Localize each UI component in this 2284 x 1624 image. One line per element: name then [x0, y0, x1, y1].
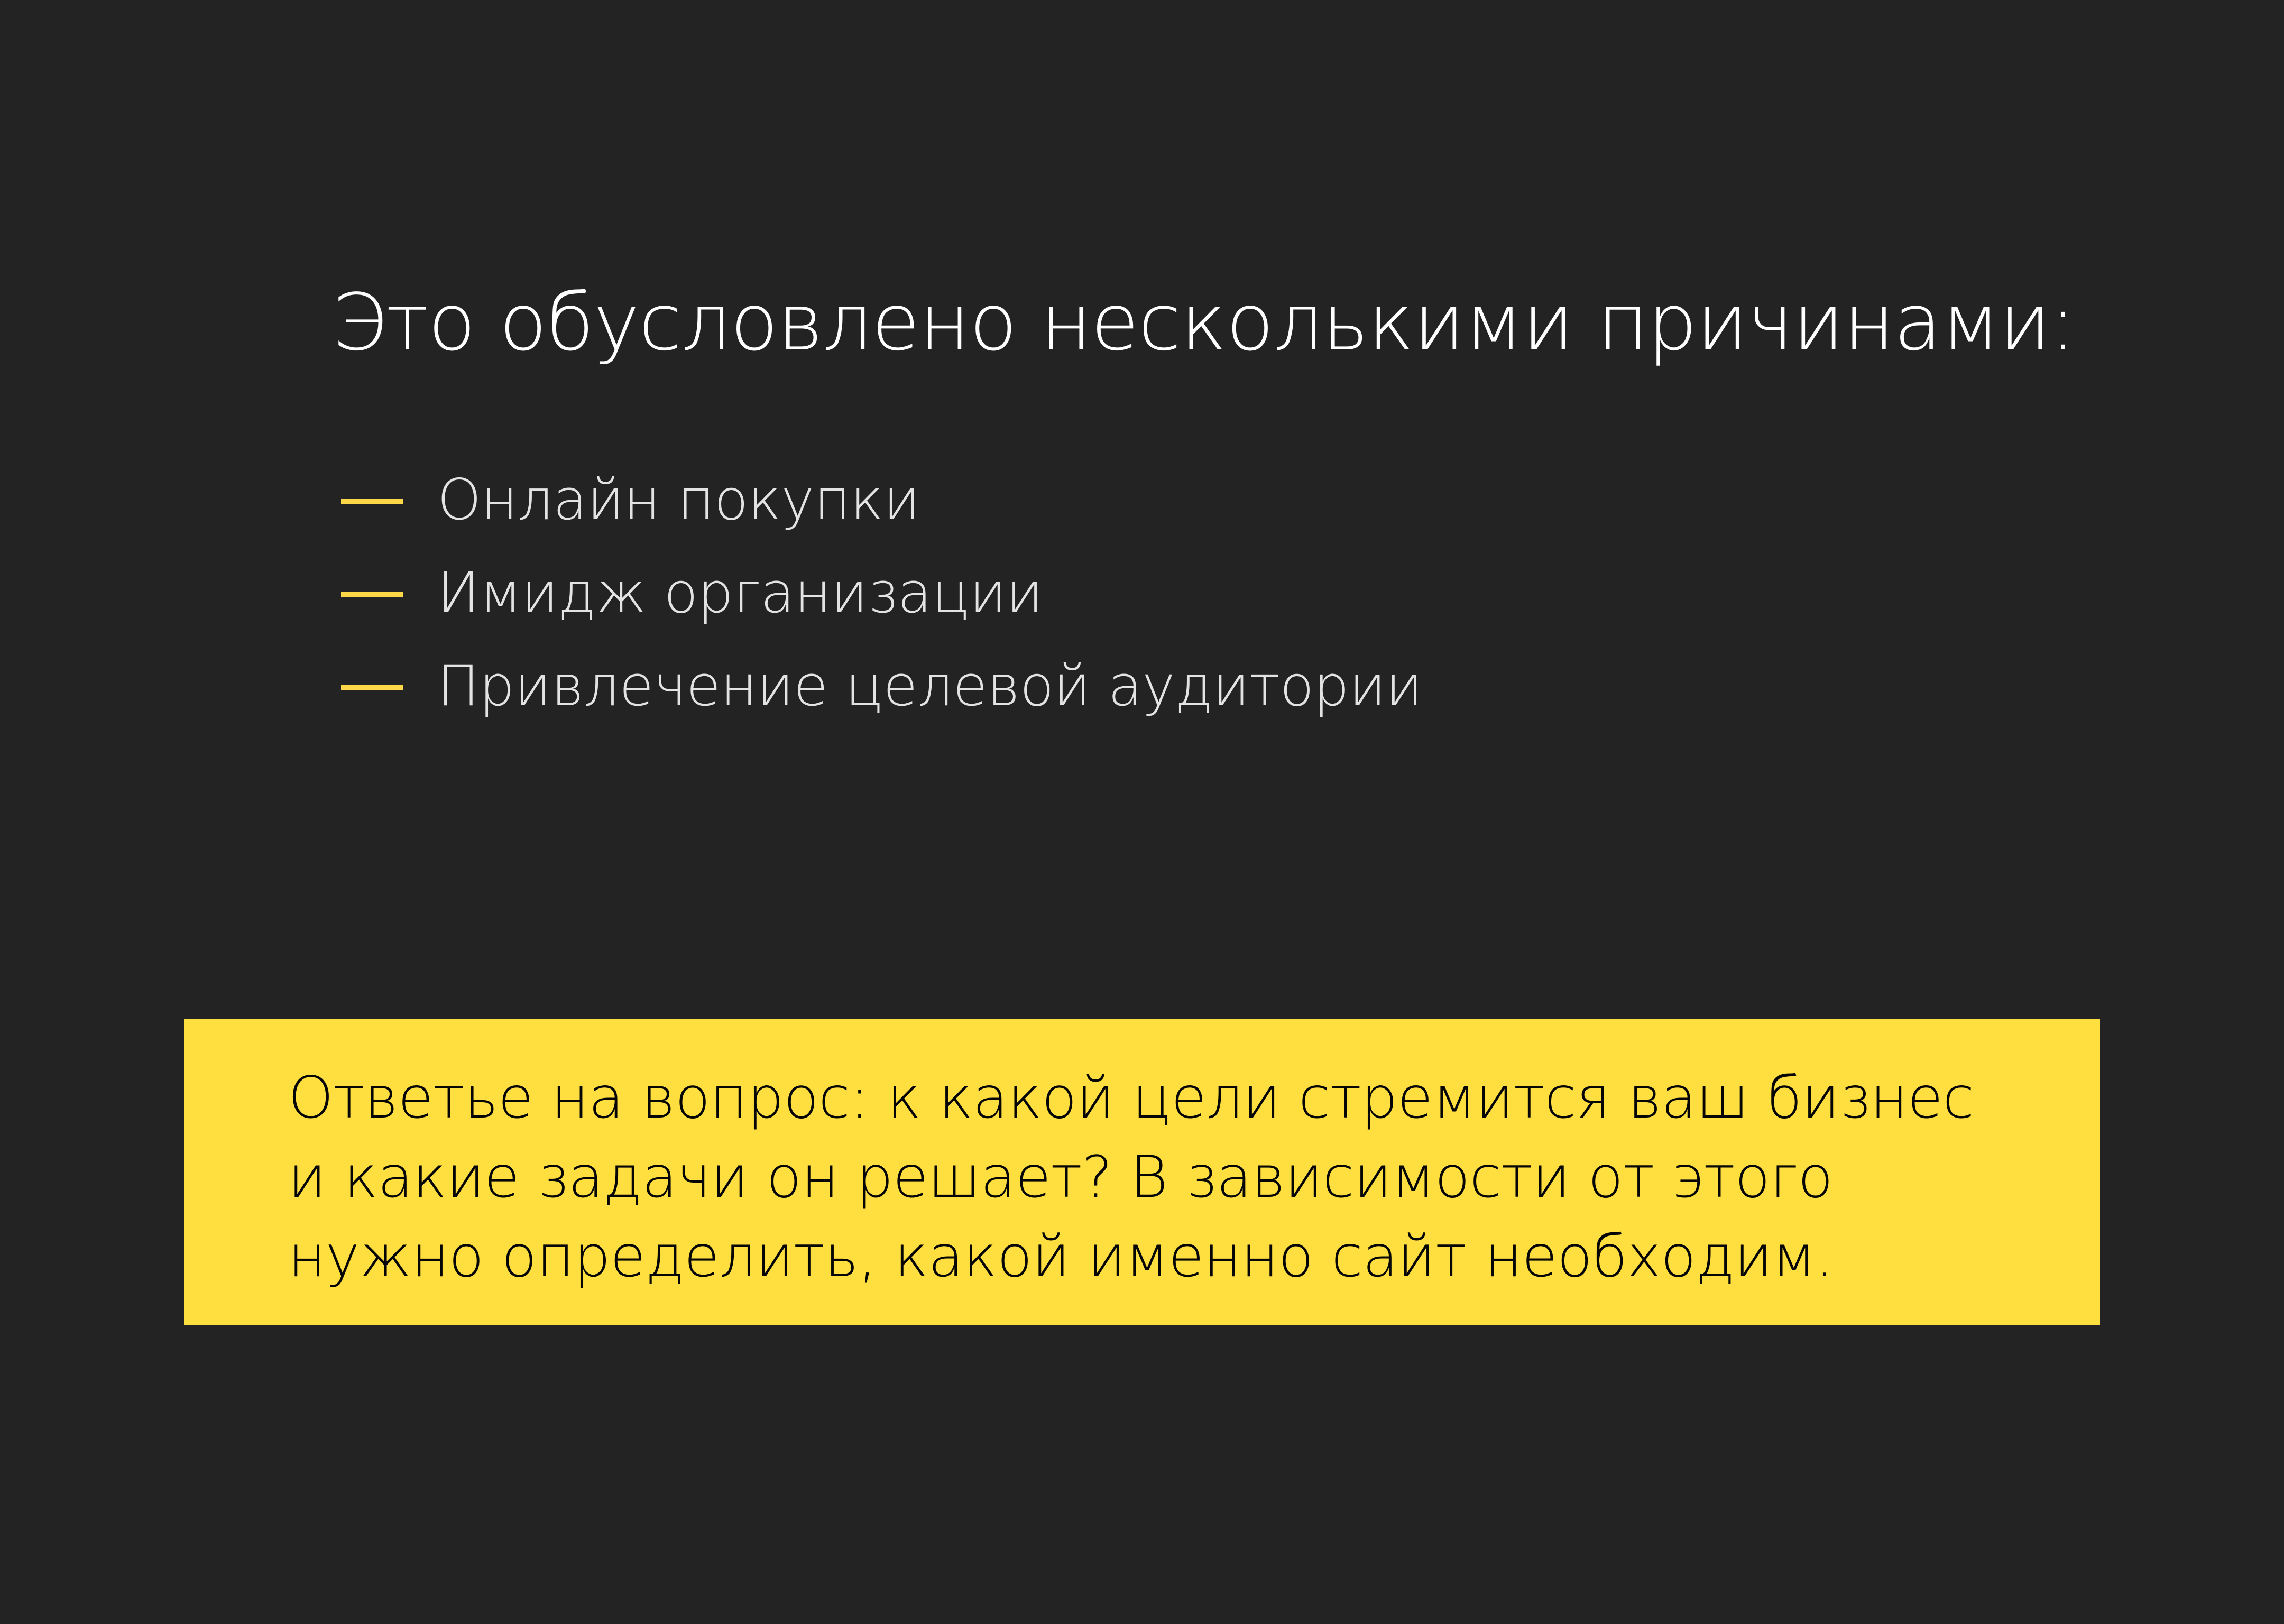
dash-marker-icon: [341, 499, 403, 504]
callout-box: Ответье на вопрос: к какой цели стремитс…: [184, 1019, 2100, 1325]
list-item: Привлечение целевой аудитории: [341, 641, 2139, 734]
list-item: Имидж организации: [341, 548, 2139, 641]
dash-marker-icon: [341, 592, 403, 597]
list-item-label: Онлайн покупки: [437, 470, 920, 529]
list-item-label: Имидж организации: [437, 564, 1043, 622]
dash-marker-icon: [341, 685, 403, 690]
list-item-label: Привлечение целевой аудитории: [437, 657, 1422, 715]
list-item: Онлайн покупки: [341, 455, 2139, 548]
reason-list: Онлайн покупки Имидж организации Привлеч…: [341, 455, 2139, 734]
slide-canvas: Это обусловлено несколькими причинами: О…: [0, 0, 2284, 1624]
page-title: Это обусловлено несколькими причинами:: [332, 283, 2077, 362]
callout-text: Ответье на вопрос: к какой цели стремитс…: [288, 1058, 2021, 1296]
